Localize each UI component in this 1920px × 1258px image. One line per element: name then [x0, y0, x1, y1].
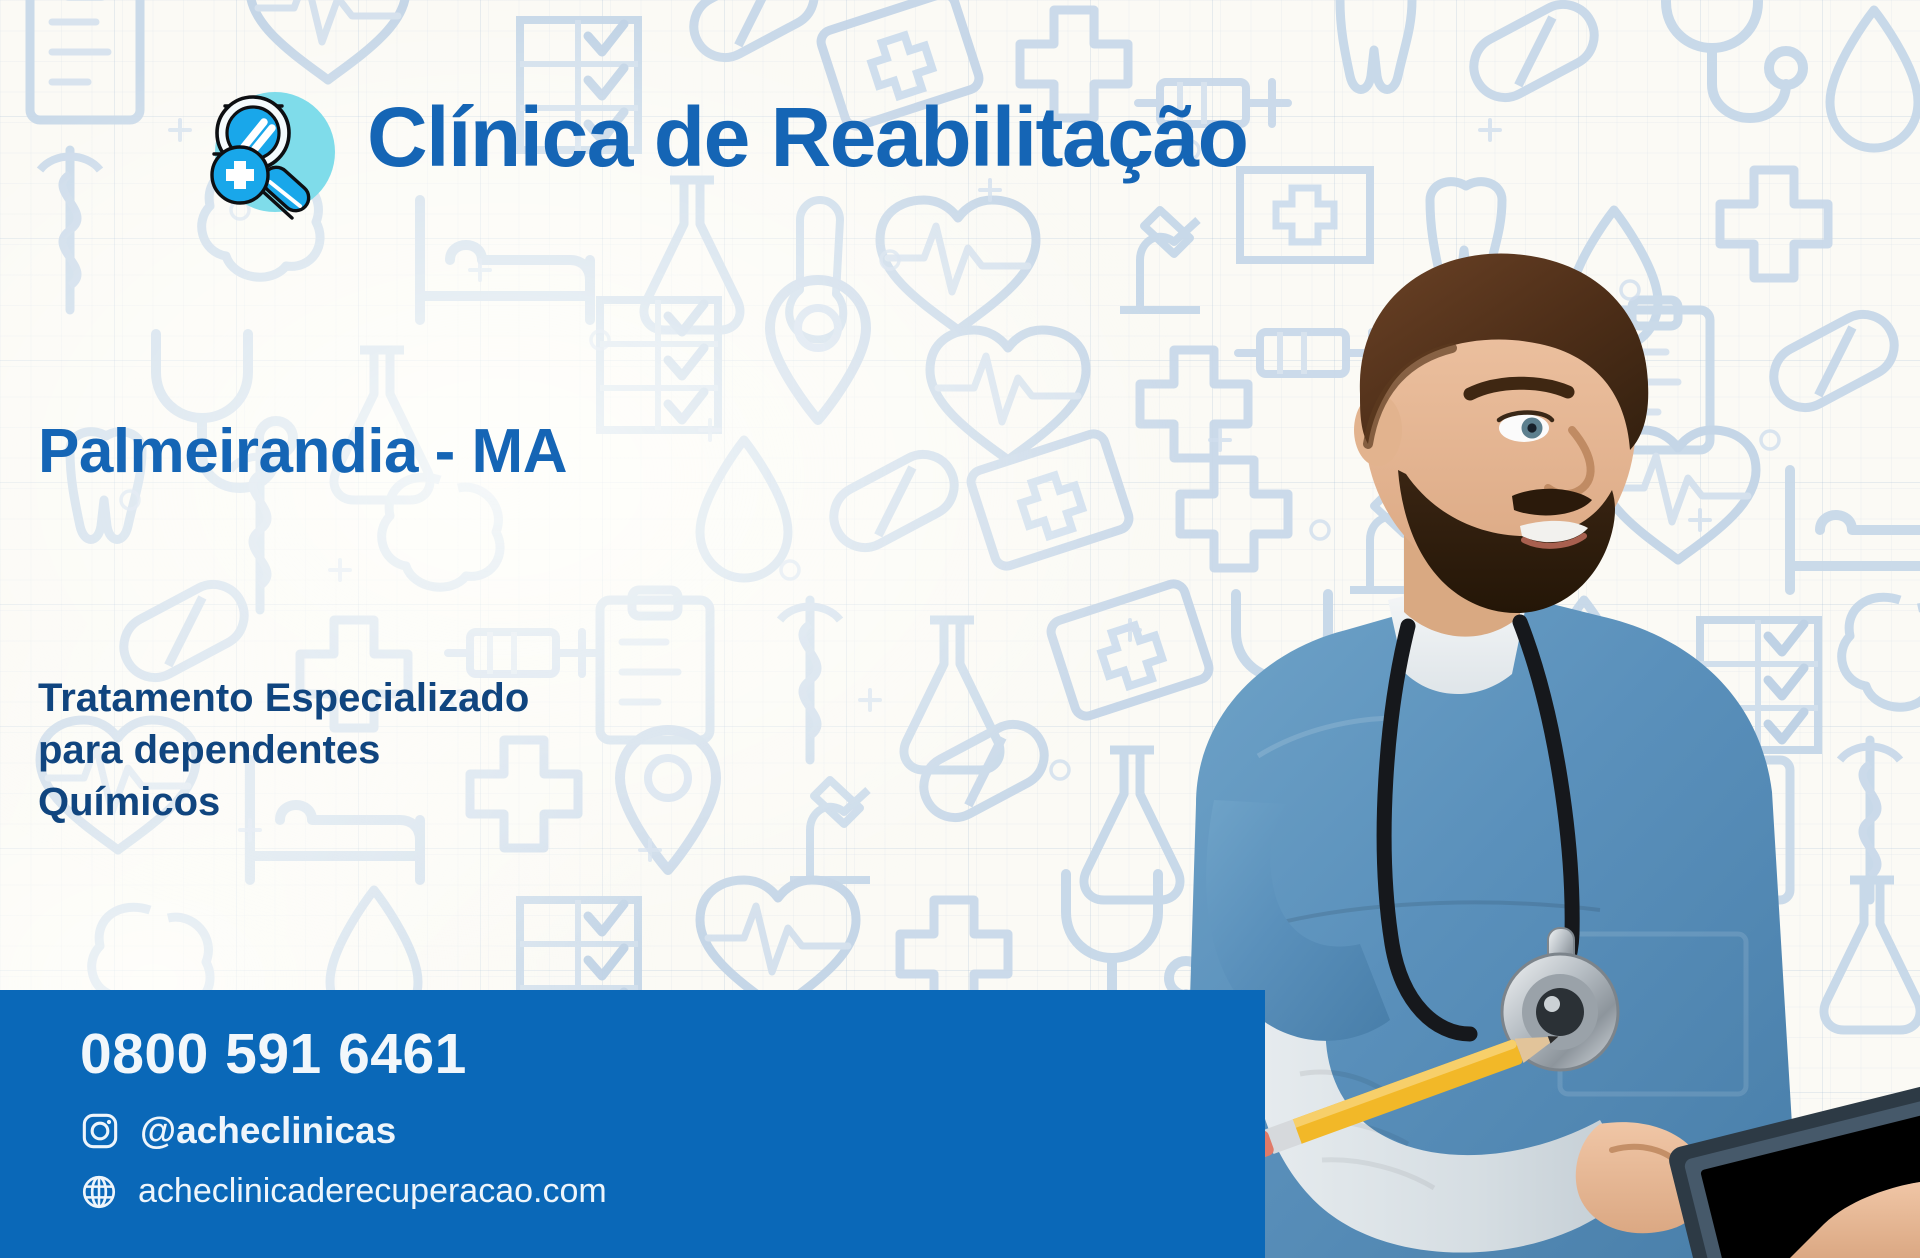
poster-canvas: Clínica de Reabilitação Palmeirandia - M…: [0, 0, 1920, 1258]
phone-number[interactable]: 0800 591 6461: [80, 1021, 467, 1087]
contact-footer: 0800 591 6461 @acheclinicas acheclinicad…: [0, 990, 1265, 1258]
website-row[interactable]: acheclinicaderecuperacao.com: [80, 1172, 607, 1211]
city-name: Palmeirandia - MA: [38, 416, 567, 487]
instagram-row[interactable]: @acheclinicas: [80, 1110, 396, 1152]
instagram-handle: @acheclinicas: [140, 1110, 396, 1152]
website-url: acheclinicaderecuperacao.com: [138, 1172, 607, 1211]
globe-icon: [80, 1173, 118, 1211]
subtitle-text: Tratamento Especializado para dependente…: [38, 672, 529, 828]
magnifier-medical-cross-icon: [196, 78, 346, 228]
instagram-icon: [80, 1111, 120, 1151]
page-title: Clínica de Reabilitação: [367, 92, 1247, 183]
